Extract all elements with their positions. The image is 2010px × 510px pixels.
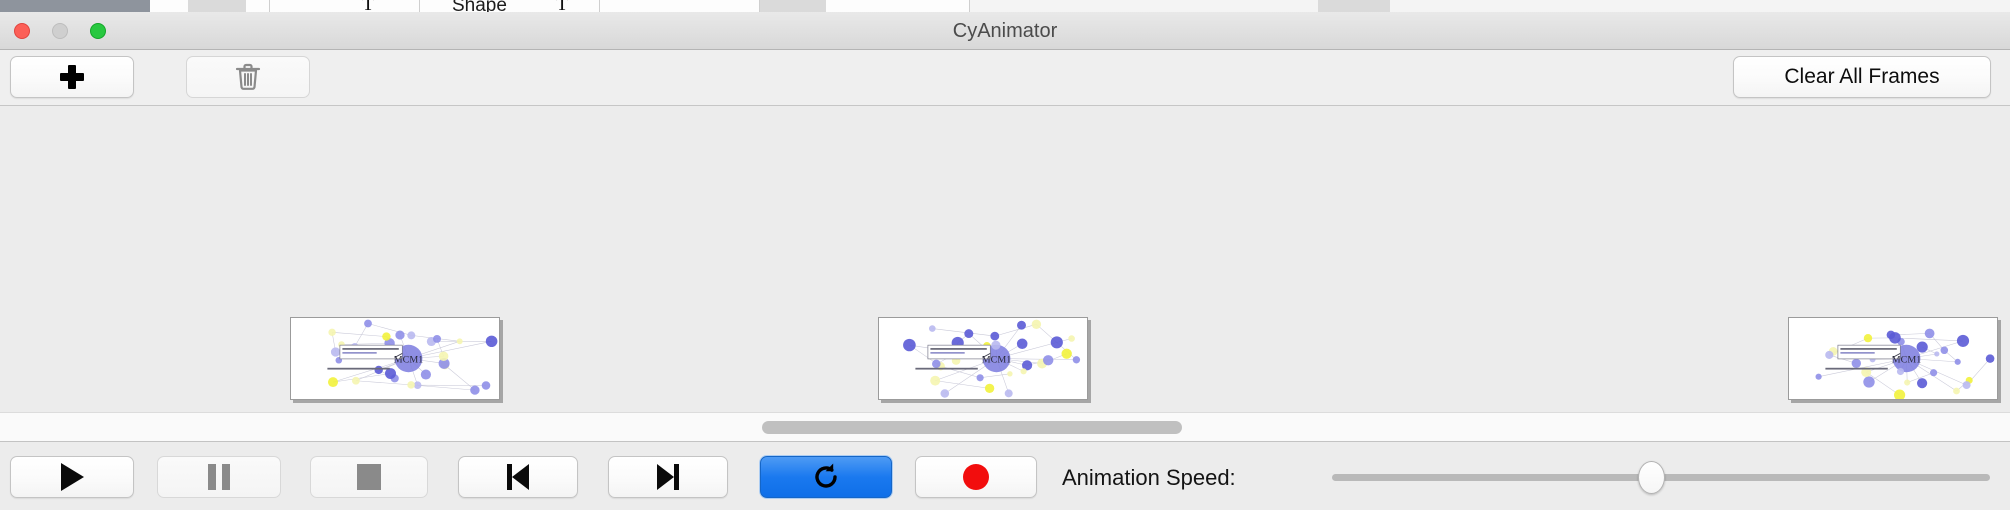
background-cell xyxy=(600,0,760,12)
background-cell xyxy=(420,0,600,12)
timeline-frame[interactable]: MCM1 xyxy=(1784,313,2002,405)
background-window-strip: T T Shape xyxy=(0,0,2010,12)
network-graph: MCM1 xyxy=(879,318,1087,399)
loop-button[interactable] xyxy=(760,456,892,498)
stop-icon xyxy=(357,464,381,490)
frame-thumbnail: MCM1 xyxy=(878,317,1088,400)
slider-thumb[interactable] xyxy=(1638,461,1665,494)
scrollbar-thumb[interactable] xyxy=(762,421,1182,434)
pause-icon xyxy=(208,464,230,490)
background-glyph-t: T xyxy=(556,0,568,12)
play-icon xyxy=(61,463,84,491)
clear-all-frames-label: Clear All Frames xyxy=(1784,65,1939,89)
play-button[interactable] xyxy=(10,456,134,498)
background-titlebar-fragment xyxy=(0,0,150,12)
background-block xyxy=(760,0,826,12)
frame-thumbnail: MCM1 xyxy=(290,317,500,400)
timeline-panel[interactable]: MCM1MCM1MCM1 12131415161718 Seconds xyxy=(0,106,2010,412)
loop-icon xyxy=(811,462,841,492)
hub-node-label: MCM1 xyxy=(982,354,1011,365)
trash-icon xyxy=(234,62,262,92)
stop-button[interactable] xyxy=(310,456,428,498)
window-titlebar: CyAnimator xyxy=(0,12,2010,50)
window-title: CyAnimator xyxy=(0,12,2010,50)
background-block xyxy=(1318,0,1390,12)
background-block xyxy=(188,0,246,12)
playback-control-bar: Animation Speed: xyxy=(0,443,2010,510)
background-glyph-t: T xyxy=(362,0,374,12)
frame-thumbnail: MCM1 xyxy=(1788,317,1998,400)
timeline-frame[interactable]: MCM1 xyxy=(286,313,504,405)
pause-button[interactable] xyxy=(157,456,281,498)
timeline-frame[interactable]: MCM1 xyxy=(874,313,1092,405)
skip-forward-icon xyxy=(656,464,680,490)
plus-icon xyxy=(59,64,85,90)
skip-forward-button[interactable] xyxy=(608,456,728,498)
timeline-scrollbar[interactable] xyxy=(0,412,2010,442)
add-frame-button[interactable] xyxy=(10,56,134,98)
skip-back-button[interactable] xyxy=(458,456,578,498)
hub-node-label: MCM1 xyxy=(1892,354,1921,365)
animation-speed-slider[interactable] xyxy=(1332,469,1990,485)
background-window-label: Shape xyxy=(452,0,507,12)
delete-frame-button[interactable] xyxy=(186,56,310,98)
network-graph: MCM1 xyxy=(291,318,499,399)
cyanimator-window: T T Shape CyAnimator Clear All Frames MC… xyxy=(0,0,2010,510)
hub-node-label: MCM1 xyxy=(394,354,423,365)
background-cell xyxy=(270,0,420,12)
clear-all-frames-button[interactable]: Clear All Frames xyxy=(1733,56,1991,98)
animation-speed-label: Animation Speed: xyxy=(1062,465,1236,491)
record-icon xyxy=(963,464,989,490)
network-graph: MCM1 xyxy=(1789,318,1997,399)
skip-back-icon xyxy=(506,464,530,490)
record-button[interactable] xyxy=(915,456,1037,498)
